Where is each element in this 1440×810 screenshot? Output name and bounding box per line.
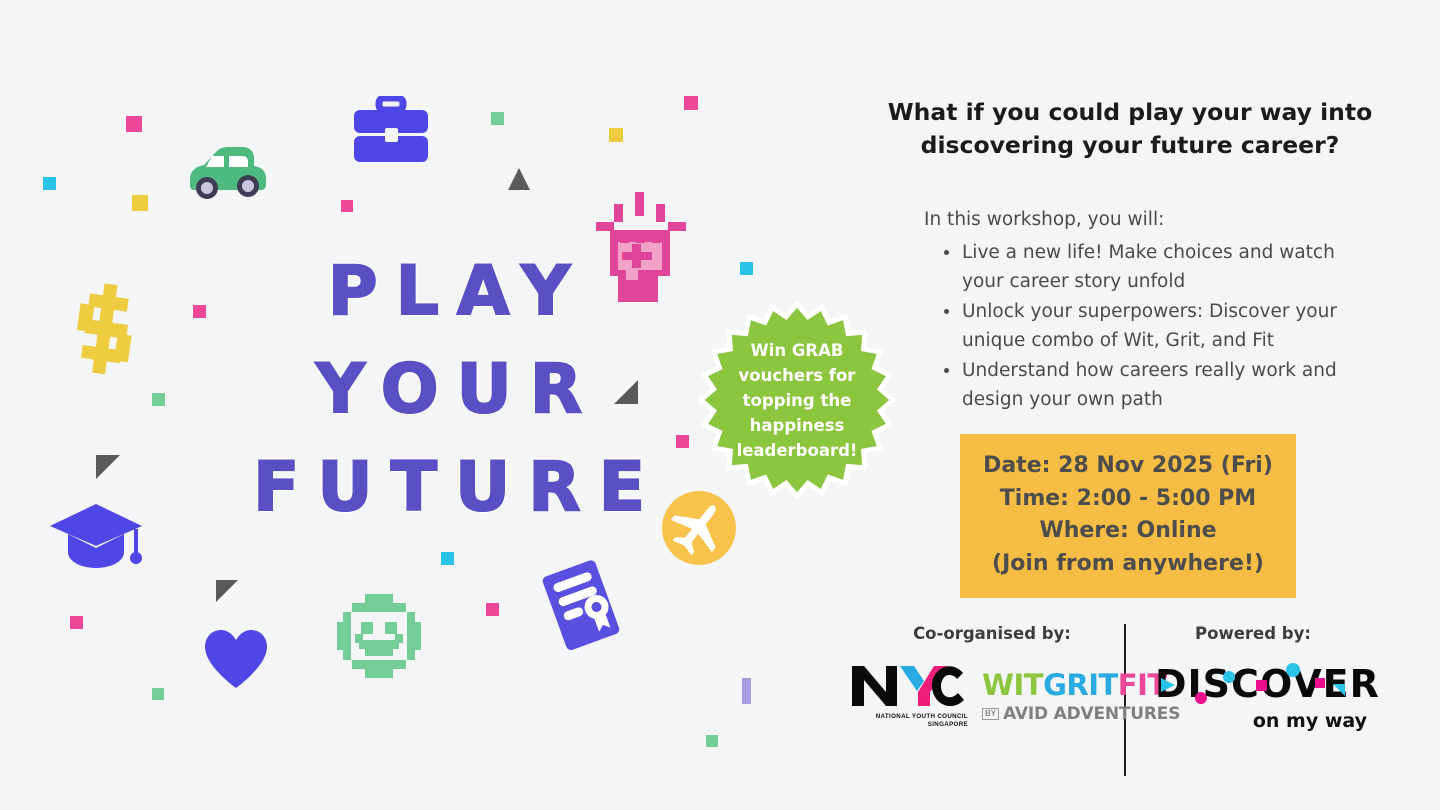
confetti-square xyxy=(740,262,753,275)
graduation-cap-icon xyxy=(48,500,144,572)
airplane-badge-icon xyxy=(662,491,736,565)
confetti-square xyxy=(43,177,56,190)
certificate-icon xyxy=(536,560,628,656)
event-location-note: (Join from anywhere!) xyxy=(970,548,1286,581)
info-column: What if you could play your way into dis… xyxy=(880,96,1380,415)
nyc-wordmark xyxy=(848,662,966,708)
wgf-by-label: BY xyxy=(982,708,999,720)
confetti-square xyxy=(486,603,499,616)
event-date: Date: 28 Nov 2025 (Fri) xyxy=(970,450,1286,483)
co-organised-label: Co-organised by: xyxy=(860,624,1124,643)
confetti-square xyxy=(676,435,689,448)
pixel-dollar-icon xyxy=(68,282,144,380)
event-details-box: Date: 28 Nov 2025 (Fri) Time: 2:00 - 5:0… xyxy=(960,434,1296,598)
confetti-square xyxy=(193,305,206,318)
discover-tagline: on my way xyxy=(1155,710,1367,732)
footer-logos: Co-organised by: Powered by: NATIONAL YO… xyxy=(860,620,1380,780)
nyc-subtitle-line1: NATIONAL YOUTH COUNCIL xyxy=(848,713,968,721)
confetti-square xyxy=(706,735,718,747)
triangle-decoration xyxy=(508,168,530,190)
intro-text: In this workshop, you will: xyxy=(924,205,1380,234)
witgritfit-logo: WITGRITFIT BY AVID ADVENTURES xyxy=(982,668,1180,724)
headline: What if you could play your way into dis… xyxy=(880,96,1380,162)
event-location: Where: Online xyxy=(970,515,1286,548)
list-item: Live a new life! Make choices and watch … xyxy=(944,238,1380,296)
confetti-square xyxy=(609,128,623,142)
confetti-square xyxy=(684,96,698,110)
title-line-2: YOUR xyxy=(248,341,668,439)
triangle-decoration xyxy=(216,580,238,602)
confetti-square xyxy=(152,688,164,700)
confetti-square xyxy=(126,116,142,132)
car-icon xyxy=(184,140,270,202)
list-item: Unlock your superpowers: Discover your u… xyxy=(944,297,1380,355)
poster-canvas: PLAY YOUR FUTURE Win GRAB vouchers for t… xyxy=(0,0,1440,810)
wgf-brand: AVID ADVENTURES xyxy=(1003,704,1180,724)
triangle-decoration xyxy=(96,455,120,479)
nyc-subtitle-line2: SINGAPORE xyxy=(848,721,968,729)
powered-by-label: Powered by: xyxy=(1126,624,1380,643)
heart-icon xyxy=(203,628,269,690)
confetti-square xyxy=(70,616,83,629)
list-item: Understand how careers really work and d… xyxy=(944,356,1380,414)
benefits-list: Live a new life! Make choices and watch … xyxy=(920,238,1380,414)
discover-logo: DISCOVER on my way xyxy=(1155,662,1367,732)
confetti-square xyxy=(742,678,751,704)
poster-title: PLAY YOUR FUTURE xyxy=(248,243,668,537)
confetti-square xyxy=(341,200,353,212)
badge-text: Win GRAB vouchers for topping the happin… xyxy=(697,300,897,500)
wgf-wit: WIT xyxy=(982,668,1043,702)
title-line-3: FUTURE xyxy=(248,439,668,537)
title-line-1: PLAY xyxy=(248,243,668,341)
wgf-grit: GRIT xyxy=(1043,668,1118,702)
pixel-smiley-icon xyxy=(335,592,423,680)
grab-voucher-badge: Win GRAB vouchers for topping the happin… xyxy=(697,300,897,500)
confetti-square xyxy=(491,112,504,125)
confetti-square xyxy=(152,393,165,406)
discover-wordmark: DISCOVER xyxy=(1155,662,1367,706)
confetti-square xyxy=(441,552,454,565)
confetti-square xyxy=(132,195,148,211)
briefcase-icon xyxy=(352,96,430,164)
event-time: Time: 2:00 - 5:00 PM xyxy=(970,483,1286,516)
nyc-logo: NATIONAL YOUTH COUNCIL SINGAPORE xyxy=(848,662,968,729)
